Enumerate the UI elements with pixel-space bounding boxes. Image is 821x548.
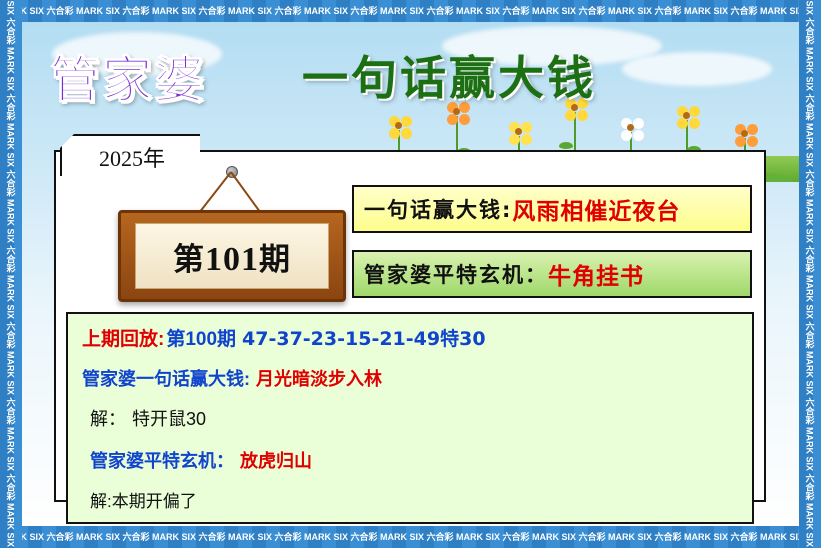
decorative-border-bottom: MARK SIX 六合彩 MARK SIX 六合彩 MARK SIX 六合彩 M… xyxy=(0,526,821,548)
bar-slogan-label: 一句话赢大钱: xyxy=(364,194,512,224)
brand-title: 管家婆 xyxy=(50,40,206,112)
panel-pingte-label: 管家婆平特玄机： xyxy=(90,447,234,473)
panel-slogan-value: 月光暗淡步入林 xyxy=(256,365,382,391)
panel-row-explain1: 解： 特开鼠30 xyxy=(82,405,738,431)
replay-title: 上期回放: xyxy=(82,324,164,351)
bar-pingte-label: 管家婆平特玄机： xyxy=(364,259,548,289)
panel-row-explain2: 解:本期开偏了 xyxy=(82,487,738,512)
border-bottom-text: MARK SIX 六合彩 MARK SIX 六合彩 MARK SIX 六合彩 M… xyxy=(0,532,821,542)
panel-row-replay: 上期回放: 第100期 47-37-23-15-21-49特30 xyxy=(82,324,738,351)
issue-text: 第101期 xyxy=(173,234,291,279)
header-slogan: 一句话赢大钱 xyxy=(302,42,596,108)
bar-slogan: 一句话赢大钱: 风雨相催近夜台 xyxy=(352,185,752,233)
bar-pingte: 管家婆平特玄机： 牛角挂书 xyxy=(352,250,752,298)
issue-number: 101 xyxy=(205,241,259,278)
decorative-border-top: MARK SIX 六合彩 MARK SIX 六合彩 MARK SIX 六合彩 M… xyxy=(0,0,821,22)
issue-prefix: 第 xyxy=(173,242,205,277)
plaque-frame: 第101期 xyxy=(118,210,346,302)
bar-slogan-value: 风雨相催近夜台 xyxy=(512,192,680,226)
panel-explain1-label: 解： xyxy=(90,405,126,431)
rope-left xyxy=(198,171,232,213)
plaque-face: 第101期 xyxy=(135,223,329,289)
border-right-text: MARK SIX 六合彩 MARK SIX 六合彩 MARK SIX 六合彩 M… xyxy=(804,0,817,548)
info-panel: 上期回放: 第100期 47-37-23-15-21-49特30 管家婆一句话赢… xyxy=(66,312,754,524)
poster-stage: 管家婆 一句话赢大钱 2025年 第101期 一句话赢大钱: 风雨相催近夜台 管… xyxy=(22,22,799,526)
rope-right xyxy=(230,171,262,214)
panel-row-pingte: 管家婆平特玄机： 放虎归山 xyxy=(82,447,738,473)
panel-slogan-label: 管家婆一句话赢大钱: xyxy=(82,365,250,391)
panel-row-slogan: 管家婆一句话赢大钱: 月光暗淡步入林 xyxy=(82,365,738,391)
bar-pingte-value: 牛角挂书 xyxy=(548,257,644,291)
panel-explain2-label: 解:本期开偏了 xyxy=(90,487,197,512)
panel-explain1-value: 特开鼠30 xyxy=(132,405,206,431)
decorative-border-right: MARK SIX 六合彩 MARK SIX 六合彩 MARK SIX 六合彩 M… xyxy=(799,0,821,548)
issue-suffix: 期 xyxy=(259,242,291,277)
issue-plaque: 第101期 xyxy=(108,170,348,298)
border-top-text: MARK SIX 六合彩 MARK SIX 六合彩 MARK SIX 六合彩 M… xyxy=(0,6,821,16)
panel-pingte-value: 放虎归山 xyxy=(240,447,312,473)
replay-issue: 第100期 xyxy=(166,324,236,351)
decorative-border-left: MARK SIX 六合彩 MARK SIX 六合彩 MARK SIX 六合彩 M… xyxy=(0,0,22,548)
header-title-row: 管家婆 一句话赢大钱 xyxy=(32,40,792,112)
border-left-text: MARK SIX 六合彩 MARK SIX 六合彩 MARK SIX 六合彩 M… xyxy=(5,0,18,548)
year-label: 2025年 xyxy=(60,134,204,180)
replay-numbers: 47-37-23-15-21-49特30 xyxy=(242,324,486,351)
